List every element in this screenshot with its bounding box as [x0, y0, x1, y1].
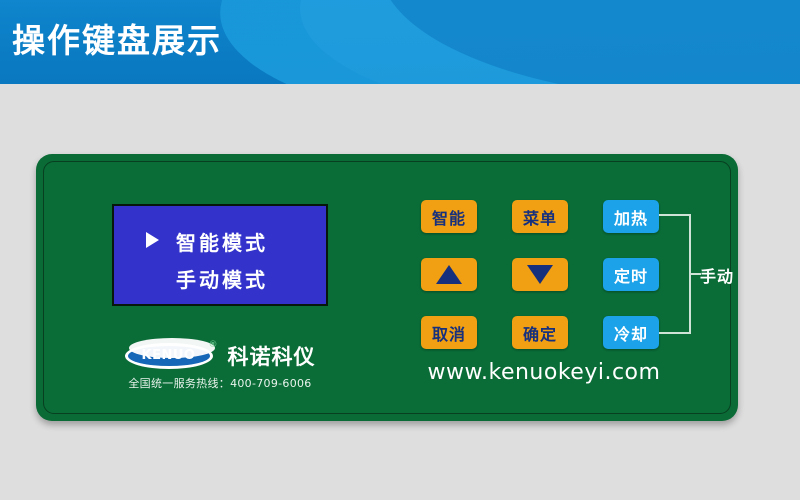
- brand-logo: KENUO ® 科诺科仪: [106, 340, 334, 372]
- key-heat[interactable]: 加热: [603, 200, 659, 233]
- manual-group-label: 手动: [700, 263, 734, 287]
- key-confirm-label: 确定: [523, 321, 557, 345]
- key-menu[interactable]: 菜单: [512, 200, 568, 233]
- lcd-line-smart-mode: 智能模式: [114, 227, 330, 256]
- page-root: 操作键盘展示 智能模式 手动模式 KENUO ® 科诺科仪: [0, 0, 800, 500]
- key-up[interactable]: [421, 258, 477, 291]
- key-timer[interactable]: 定时: [603, 258, 659, 291]
- key-smart-label: 智能: [432, 205, 466, 229]
- key-cool-label: 冷却: [614, 321, 648, 345]
- key-cool[interactable]: 冷却: [603, 316, 659, 349]
- keypad-panel: 智能模式 手动模式 KENUO ® 科诺科仪 全国统一服务热线：400-709-…: [36, 154, 738, 421]
- key-down[interactable]: [512, 258, 568, 291]
- lcd-line-manual-mode: 手动模式: [114, 264, 330, 293]
- service-hotline: 全国统一服务热线：400-709-6006: [106, 375, 334, 391]
- website-url: www.kenuokeyi.com: [364, 360, 724, 385]
- kenuo-logo-icon: KENUO ®: [125, 342, 220, 371]
- registered-trademark-icon: ®: [209, 340, 218, 350]
- key-timer-label: 定时: [614, 263, 648, 287]
- lcd-display: 智能模式 手动模式: [112, 204, 328, 306]
- page-title: 操作键盘展示: [12, 19, 222, 63]
- key-cancel-label: 取消: [432, 321, 466, 345]
- key-cancel[interactable]: 取消: [421, 316, 477, 349]
- arrow-down-icon: [527, 265, 553, 284]
- key-smart[interactable]: 智能: [421, 200, 477, 233]
- company-name-cn: 科诺科仪: [228, 341, 316, 371]
- manual-group-bracket: [659, 214, 691, 334]
- logo-wordmark: KENUO: [125, 342, 213, 370]
- arrow-up-icon: [436, 265, 462, 284]
- key-heat-label: 加热: [614, 205, 648, 229]
- page-header: 操作键盘展示: [0, 0, 800, 84]
- keypad-panel-inner: 智能模式 手动模式 KENUO ® 科诺科仪 全国统一服务热线：400-709-…: [43, 161, 731, 414]
- key-confirm[interactable]: 确定: [512, 316, 568, 349]
- key-menu-label: 菜单: [523, 205, 557, 229]
